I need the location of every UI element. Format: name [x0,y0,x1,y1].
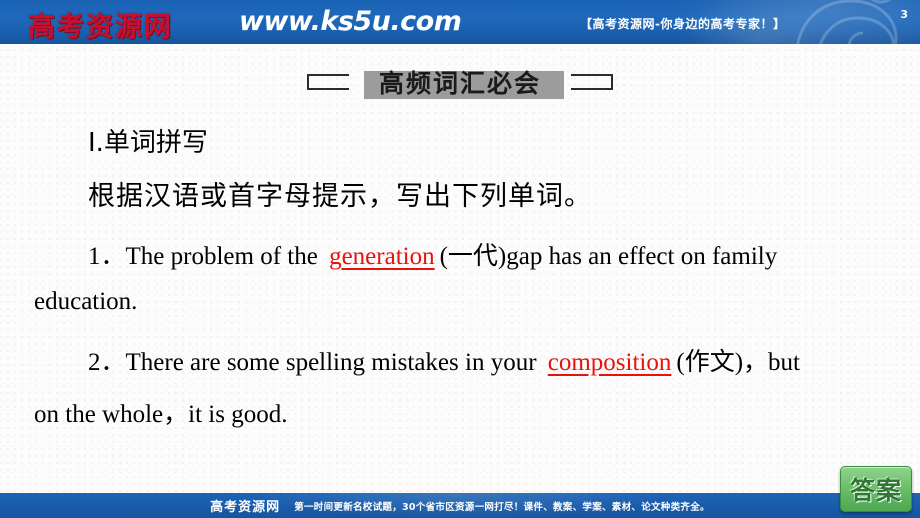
question-1-line-1: 1．The problem of the generation(一代)gap h… [88,236,777,272]
question-2-post-text: ，but [743,349,800,376]
question-2-line-1: 2．There are some spelling mistakes in yo… [88,342,800,378]
site-logo: 高考资源网 [28,5,173,44]
section-direction: 根据汉语或首字母提示，写出下列单词。 [88,174,592,213]
question-1-number: 1． [88,243,126,270]
site-slogan: 【高考资源网-你身边的高考专家！】 [580,15,785,32]
show-answer-button[interactable]: 答案 [840,466,912,512]
section-heading: Ⅰ.单词拼写 [88,122,208,159]
decorative-swirl-icon [786,0,916,44]
question-1-line-2: education. [34,288,137,316]
question-2-answer: composition [543,349,677,376]
footer-tagline: 第一时间更新名校试题，30个省市区资源一网打尽！课件、教案、学案、素材、论文种类… [294,499,710,513]
site-url: www.ks5u.com [239,6,461,37]
footer-brand: 高考资源网 [210,496,280,515]
title-bracket-left-icon [307,74,349,90]
question-2-hint: (作文) [676,349,743,376]
question-2-line-2: on the whole，it is good. [34,394,287,430]
header-bar: 高考资源网 www.ks5u.com 【高考资源网-你身边的高考专家！】 3 [0,0,920,44]
question-1-post-text: gap has an effect on family [506,243,777,270]
question-2-number: 2． [88,349,126,376]
page-title: 高频词汇必会 [357,64,563,100]
question-1-hint: (一代) [440,243,507,270]
show-answer-button-label: 答案 [850,471,902,507]
page-number: 3 [900,8,908,21]
title-bracket-right-icon [571,74,613,90]
question-2-pre-text: There are some spelling mistakes in your [126,349,543,376]
footer-bar: 高考资源网 第一时间更新名校试题，30个省市区资源一网打尽！课件、教案、学案、素… [0,493,920,518]
question-1-answer: generation [324,243,440,270]
slide-canvas: 高考资源网 www.ks5u.com 【高考资源网-你身边的高考专家！】 3 高… [0,0,920,518]
section-title-banner: 高频词汇必会 [0,62,920,106]
question-1-pre-text: The problem of the [126,243,325,270]
